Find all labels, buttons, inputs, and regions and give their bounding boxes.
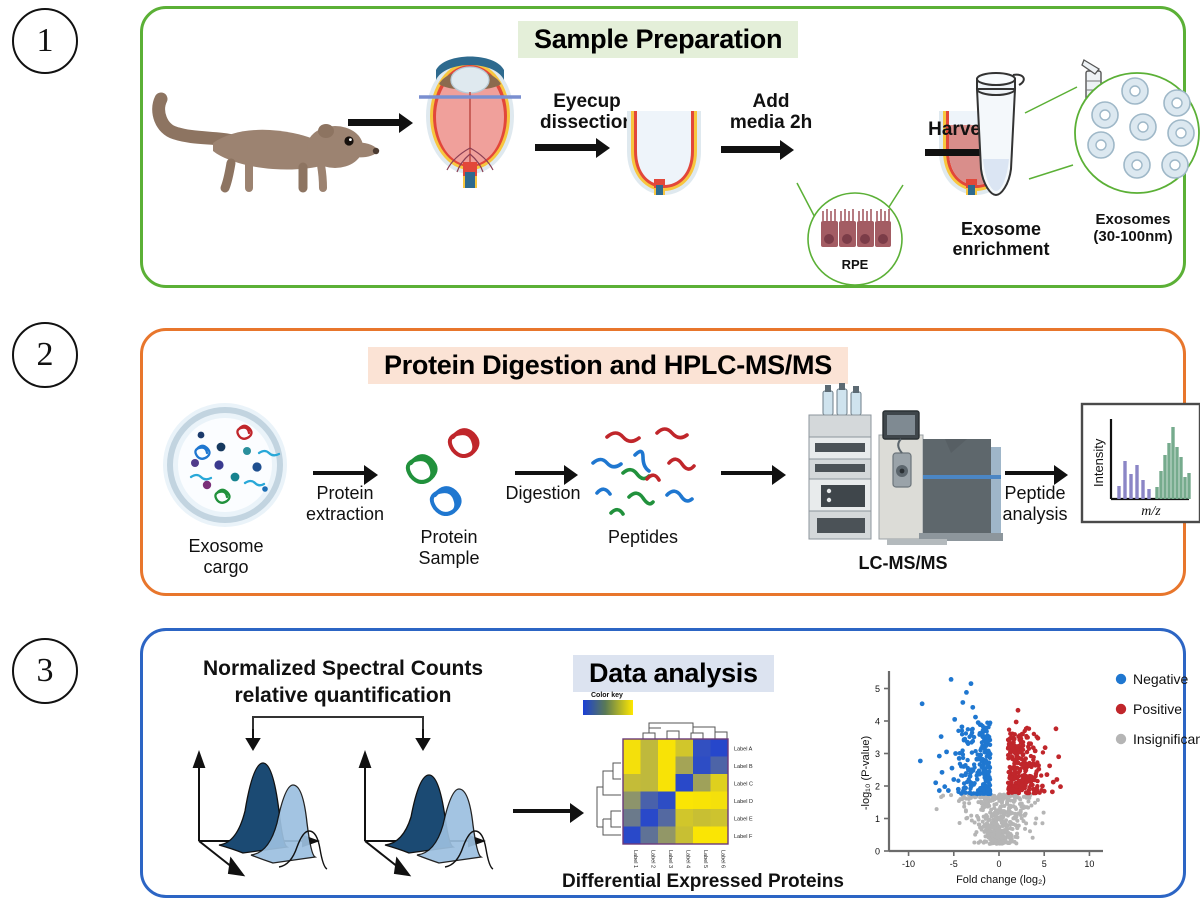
heatmap-cell (641, 739, 659, 757)
volcano-point (1008, 750, 1012, 754)
label-lcmsms: LC-MS/MS (823, 553, 983, 573)
volcano-point (1042, 789, 1047, 794)
volcano-point (1035, 736, 1040, 741)
volcano-point (960, 748, 964, 752)
volcano-point (962, 786, 966, 790)
protein-extraction-line1: Protein (295, 483, 395, 504)
volcano-point (1027, 774, 1032, 779)
volcano-point (984, 779, 988, 783)
volcano-point (1016, 708, 1021, 713)
volcano-point (1007, 790, 1011, 794)
volcano-point (1010, 766, 1014, 770)
heatmap-row-label: Label B (734, 764, 753, 770)
volcano-point (1006, 770, 1010, 774)
volcano-point (1036, 767, 1041, 772)
volcano-point (984, 817, 988, 821)
volcano-point (949, 677, 954, 682)
volcano-point (956, 779, 960, 783)
exosome-cargo-line1: Exosome (163, 536, 289, 557)
panel-title-2: Protein Digestion and HPLC-MS/MS (368, 347, 848, 384)
exosome-cargo-illustration (161, 401, 289, 529)
volcano-point (1014, 789, 1018, 793)
volcano-point (986, 832, 990, 836)
heatmap-cell (658, 827, 676, 845)
volcano-point (1050, 789, 1055, 794)
volcano-point (971, 739, 975, 743)
volcano-point (983, 760, 987, 764)
volcano-xlabel: Fold change (log₂) (956, 874, 1046, 886)
volcano-point (981, 820, 985, 824)
volcano-point (984, 727, 988, 731)
volcano-point (960, 732, 964, 736)
volcano-point (977, 818, 981, 822)
volcano-point (1022, 759, 1027, 764)
volcano-point (951, 777, 956, 782)
heatmap-cell (711, 827, 729, 845)
volcano-point (1041, 750, 1045, 754)
heatmap-cell (623, 809, 641, 827)
volcano-point (987, 818, 991, 822)
volcano-point (1031, 836, 1035, 840)
volcano-point (1035, 784, 1039, 788)
volcano-point (1045, 772, 1050, 777)
eye-anatomy-illustration (415, 44, 525, 189)
volcano-point (959, 773, 963, 777)
volcano-point (1031, 787, 1036, 792)
volcano-xtick: 0 (996, 859, 1001, 869)
heatmap-caption: Differential Expressed Proteins (553, 871, 853, 892)
volcano-point (953, 751, 958, 756)
volcano-ytick: 4 (875, 716, 880, 726)
volcano-point (992, 806, 996, 810)
volcano-point (998, 830, 1002, 834)
volcano-point (957, 756, 962, 761)
step-number-badge-2: 2 (12, 322, 78, 388)
volcano-point (944, 749, 949, 754)
volcano-point (1024, 768, 1028, 772)
heatmap-cell (623, 739, 641, 757)
rpe-inset-circle: RPE (791, 177, 921, 289)
volcano-point (1013, 840, 1017, 844)
volcano-point (980, 765, 984, 769)
volcano-point (980, 828, 984, 832)
heatmap-cell (676, 809, 694, 827)
volcano-point (940, 770, 945, 775)
heatmap-cell (711, 739, 729, 757)
volcano-ytick: 2 (875, 781, 880, 791)
heatmap-cell (658, 774, 676, 792)
label-normalized-spectral-counts: Normalized Spectral Counts relative quan… (163, 655, 523, 710)
volcano-point (999, 833, 1003, 837)
volcano-point (1040, 821, 1044, 825)
volcano-legend-marker (1116, 674, 1126, 684)
heatmap-cell (676, 757, 694, 775)
volcano-point (937, 754, 942, 759)
volcano-point (1007, 835, 1011, 839)
protein-extraction-line2: extraction (295, 504, 395, 525)
heatmap-cell (658, 739, 676, 757)
step-number-badge-1: 1 (12, 8, 78, 74)
volcano-point (988, 777, 992, 781)
volcano-point (962, 796, 966, 800)
volcano-xtick: 5 (1042, 859, 1047, 869)
volcano-point (962, 781, 966, 785)
volcano-point (1012, 777, 1016, 781)
volcano-point (1002, 835, 1006, 839)
volcano-point (946, 788, 951, 793)
volcano-legend-label: Insignificant (1133, 731, 1200, 747)
tree-shrew-illustration (153, 71, 403, 191)
panel-protein-digestion: Protein Digestion and HPLC-MS/MS (140, 328, 1186, 596)
eyecup-illustration (621, 109, 707, 201)
volcano-point (979, 757, 983, 761)
volcano-point (1023, 827, 1027, 831)
volcano-point (979, 786, 983, 790)
volcano-xtick: -10 (902, 859, 915, 869)
volcano-point (963, 790, 967, 794)
volcano-point (1028, 741, 1033, 746)
volcano-point (962, 805, 966, 809)
volcano-point (918, 759, 923, 764)
volcano-point (1031, 757, 1035, 761)
protein-sample-illustration (395, 419, 505, 529)
volcano-point (937, 788, 942, 793)
label-digestion: Digestion (498, 483, 588, 504)
heatmap-col-label: Label 5 (702, 850, 708, 868)
arrow-to-heatmap (513, 809, 571, 813)
volcano-point (1027, 785, 1031, 789)
spectrum-ylabel: Intensity (1091, 438, 1106, 487)
lcmsms-instrument-illustration (795, 383, 1005, 551)
label-exosomes-size: Exosomes (30-100nm) (1063, 212, 1200, 246)
volcano-point (964, 771, 968, 775)
volcano-point (1021, 743, 1025, 747)
volcano-point (972, 840, 976, 844)
volcano-point (1056, 754, 1061, 759)
heatmap-col-label: Label 6 (719, 850, 725, 868)
volcano-point (1027, 791, 1031, 795)
volcano-xtick: -5 (950, 859, 958, 869)
volcano-point (982, 773, 986, 777)
volcano-point (1003, 828, 1007, 832)
volcano-point (942, 784, 947, 789)
volcano-point (994, 795, 998, 799)
volcano-point (961, 764, 966, 769)
volcano-point (970, 818, 974, 822)
peptide-analysis-line1: Peptide (991, 483, 1079, 504)
volcano-point (1033, 749, 1038, 754)
volcano-point (990, 821, 994, 825)
volcano-point (935, 807, 939, 811)
panel-title-1: Sample Preparation (518, 21, 798, 58)
volcano-point (968, 791, 972, 795)
volcano-point (1008, 804, 1012, 808)
volcano-point (974, 830, 978, 834)
heatmap-cell (658, 809, 676, 827)
heatmap-cell (711, 809, 729, 827)
heatmap-cell (623, 792, 641, 810)
volcano-point (981, 808, 985, 812)
volcano-point (985, 802, 989, 806)
volcano-point (999, 816, 1003, 820)
heatmap-cell (693, 792, 711, 810)
volcano-legend-label: Positive (1133, 701, 1182, 717)
volcano-point (920, 701, 925, 706)
peptide-analysis-line2: analysis (991, 504, 1079, 525)
volcano-point (1023, 813, 1027, 817)
volcano-point (1039, 773, 1043, 777)
volcano-point (980, 740, 984, 744)
volcano-point (1015, 819, 1019, 823)
heatmap-cell (658, 757, 676, 775)
volcano-point (979, 791, 983, 795)
heatmap-col-label: Label 2 (649, 850, 655, 868)
volcano-xtick: 10 (1084, 859, 1094, 869)
volcano-point (976, 720, 981, 725)
volcano-point (1011, 827, 1015, 831)
heatmap-cell (676, 739, 694, 757)
panel-sample-preparation: Sample Preparation (140, 6, 1186, 288)
volcano-legend-marker (1116, 704, 1126, 714)
volcano-point (1026, 800, 1030, 804)
volcano-point (1015, 745, 1020, 750)
volcano-ytick: 1 (875, 814, 880, 824)
volcano-point (983, 747, 987, 751)
heatmap-row-label: Label C (734, 781, 753, 787)
volcano-point (988, 752, 992, 756)
heatmap-row-label: Label E (734, 816, 753, 822)
volcano-point (1051, 780, 1056, 785)
volcano-point (1036, 798, 1040, 802)
volcano-point (1009, 780, 1013, 784)
volcano-point (1015, 755, 1019, 759)
volcano-point (956, 787, 961, 792)
heatmap-cell (641, 809, 659, 827)
workflow-step-1: 1 Sample Preparation (0, 0, 1200, 300)
volcano-point (961, 756, 965, 760)
exosome-enrichment-line1: Exosome (931, 219, 1071, 239)
volcano-point (968, 774, 973, 779)
volcano-point (939, 734, 944, 739)
volcano-point (976, 752, 980, 756)
workflow-step-3: 3 Data analysis Normalized Spectral Coun… (0, 620, 1200, 917)
spectrum-xlabel: m/z (1141, 504, 1161, 519)
volcano-point (1042, 811, 1046, 815)
volcano-point (967, 801, 971, 805)
volcano-point (970, 730, 974, 734)
volcano-point (971, 782, 976, 787)
arrow-digestion (515, 471, 565, 475)
volcano-point (1020, 778, 1024, 782)
volcano-point (1054, 726, 1059, 731)
volcano-point (993, 839, 997, 843)
workflow-step-2: 2 Protein Digestion and HPLC-MS/MS (0, 310, 1200, 610)
volcano-point (1043, 745, 1048, 750)
heatmap-col-label: Label 1 (632, 850, 638, 868)
rpe-label: RPE (842, 257, 869, 272)
heatmap-cell (676, 792, 694, 810)
color-key-label: Color key (591, 692, 623, 699)
volcano-point (964, 808, 968, 812)
volcano-point (1019, 804, 1023, 808)
volcano-point (939, 795, 943, 799)
heatmap-cell (641, 827, 659, 845)
add-media-line2: media 2h (716, 112, 826, 133)
volcano-point (969, 814, 973, 818)
volcano-point (972, 765, 976, 769)
volcano-point (1000, 801, 1004, 805)
heatmap-cell (693, 757, 711, 775)
volcano-point (986, 787, 990, 791)
volcano-point (1033, 801, 1037, 805)
heatmap-col-label: Label 4 (684, 850, 690, 868)
volcano-point (1024, 821, 1028, 825)
add-media-line1: Add (716, 91, 826, 112)
volcano-point (1019, 813, 1023, 817)
volcano-point (1047, 763, 1052, 768)
volcano-point (974, 773, 978, 777)
volcano-point (973, 715, 978, 720)
volcano-point (993, 817, 997, 821)
volcano-point (1025, 726, 1030, 731)
volcano-point (952, 717, 957, 722)
volcano-point (1014, 720, 1019, 725)
exosome-magnification-circle (1021, 69, 1200, 209)
heatmap-row-label: Label A (734, 746, 753, 752)
volcano-legend-marker (1116, 734, 1126, 744)
exosome-enrichment-line2: enrichment (931, 239, 1071, 259)
heatmap-cell (676, 774, 694, 792)
volcano-point (984, 840, 988, 844)
volcano-point (965, 758, 969, 762)
protein-sample-line2: Sample (393, 548, 505, 569)
volcano-point (970, 750, 974, 754)
arrow-eye-to-eyecup (535, 144, 597, 151)
volcano-point (992, 811, 996, 815)
step-number-badge-3: 3 (12, 638, 78, 704)
mass-spectrum-plot: Intensity m/z (1081, 403, 1200, 523)
volcano-plot-figure: -10-50510012345 NegativePositiveInsignif… (853, 655, 1183, 895)
volcano-legend-label: Negative (1133, 671, 1188, 687)
microcentrifuge-tube-illustration (963, 71, 1029, 201)
exosomes-line1: Exosomes (1063, 212, 1200, 229)
volcano-point (1011, 822, 1015, 826)
volcano-point (1001, 840, 1005, 844)
volcano-point (1015, 784, 1019, 788)
heatmap-cell (623, 827, 641, 845)
volcano-point (1010, 811, 1014, 815)
heatmap-cell (693, 774, 711, 792)
volcano-point (985, 739, 989, 743)
label-exosome-enrichment: Exosome enrichment (931, 219, 1071, 259)
volcano-point (990, 833, 994, 837)
volcano-point (1027, 761, 1031, 765)
volcano-point (949, 793, 953, 797)
volcano-point (1027, 746, 1031, 750)
volcano-point (975, 814, 979, 818)
spectral-counts-distribution-illustration (175, 707, 515, 875)
label-add-media: Add media 2h (716, 91, 826, 134)
arrow-protein-extraction (313, 471, 365, 475)
heatmap-cell (711, 757, 729, 775)
volcano-point (1002, 812, 1006, 816)
volcano-point (980, 802, 984, 806)
heatmap-cell (623, 774, 641, 792)
quant-title-line2: relative quantification (163, 682, 523, 709)
protein-sample-line1: Protein (393, 527, 505, 548)
volcano-point (1013, 835, 1017, 839)
label-peptides: Peptides (583, 527, 703, 548)
volcano-point (1028, 829, 1032, 833)
volcano-point (1008, 823, 1012, 827)
volcano-point (1013, 805, 1017, 809)
heatmap-col-label: Label 3 (667, 850, 673, 868)
heatmap-cell (641, 792, 659, 810)
volcano-point (1021, 752, 1025, 756)
heatmap-cell (641, 774, 659, 792)
label-protein-extraction: Protein extraction (295, 483, 395, 524)
panel-data-analysis: Data analysis Normalized Spectral Counts… (140, 628, 1186, 898)
volcano-point (1023, 786, 1027, 790)
volcano-point (1040, 784, 1045, 789)
volcano-point (1009, 735, 1013, 739)
heatmap-cell (693, 739, 711, 757)
volcano-point (956, 729, 960, 733)
volcano-point (950, 766, 955, 771)
label-protein-sample: Protein Sample (393, 527, 505, 568)
volcano-point (984, 813, 988, 817)
volcano-point (978, 748, 982, 752)
volcano-point (1017, 824, 1021, 828)
volcano-point (958, 821, 962, 825)
volcano-point (960, 724, 965, 729)
volcano-point (978, 839, 982, 843)
heatmap-cell (658, 792, 676, 810)
heatmap-cell (641, 757, 659, 775)
volcano-point (1035, 760, 1039, 764)
volcano-ytick: 5 (875, 684, 880, 694)
heatmap-figure: Color key (583, 687, 813, 887)
volcano-ytick: 0 (875, 846, 880, 856)
heatmap-cell (711, 774, 729, 792)
volcano-point (999, 804, 1003, 808)
volcano-point (964, 690, 969, 695)
volcano-point (978, 731, 983, 736)
exosome-cargo-line2: cargo (163, 557, 289, 578)
volcano-point (1011, 771, 1015, 775)
volcano-point (1017, 737, 1022, 742)
heatmap-cell (693, 809, 711, 827)
heatmap-cell (693, 827, 711, 845)
heatmap-row-label: Label D (734, 799, 753, 805)
volcano-point (970, 705, 975, 710)
volcano-point (998, 795, 1002, 799)
arrow-peptide-analysis (1005, 471, 1055, 475)
arrow-to-instrument (721, 471, 773, 475)
quant-title-line1: Normalized Spectral Counts (163, 655, 523, 682)
volcano-point (962, 801, 966, 805)
arrow-eyecup-to-media (721, 146, 781, 153)
volcano-point (969, 681, 974, 686)
heatmap-cell (676, 827, 694, 845)
volcano-point (1007, 831, 1011, 835)
heatmap-cell (623, 757, 641, 775)
heatmap-cell (711, 792, 729, 810)
volcano-point (997, 839, 1001, 843)
volcano-ylabel: -log₁₀ (P-value) (860, 736, 872, 810)
volcano-point (966, 727, 970, 731)
volcano-point (1026, 735, 1030, 739)
